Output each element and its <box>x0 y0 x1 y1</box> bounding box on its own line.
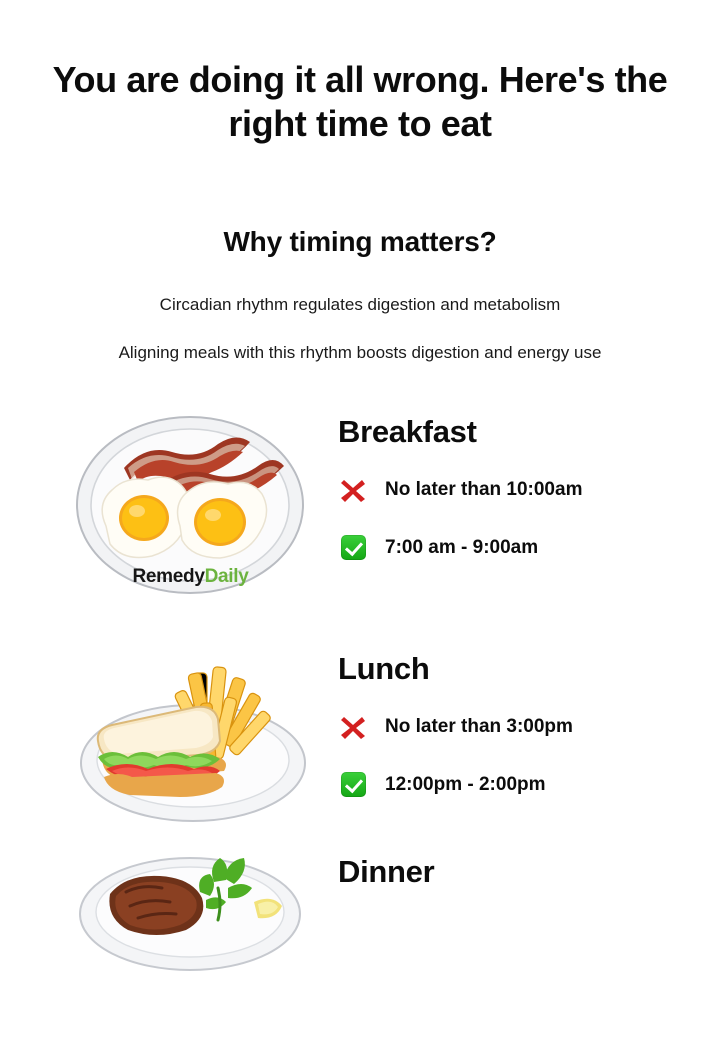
breakfast-limit-text: No later than 10:00am <box>385 479 582 501</box>
breakfast-ideal-row: 7:00 am - 9:00am <box>338 531 698 565</box>
section-point-1: Circadian rhythm regulates digestion and… <box>30 295 690 315</box>
dinner-details: Dinner <box>338 848 698 889</box>
dinner-food-image <box>68 848 313 1038</box>
lunch-limit-row: No later than 3:00pm <box>338 710 698 744</box>
meal-heading-dinner: Dinner <box>338 856 698 889</box>
breakfast-food-image: RemedyDaily <box>68 408 313 598</box>
watermark: RemedyDaily <box>132 566 248 588</box>
page-title: You are doing it all wrong. Here's the r… <box>30 58 690 146</box>
meal-heading-breakfast: Breakfast <box>338 416 698 449</box>
lunch-ideal-row: 12:00pm - 2:00pm <box>338 768 698 802</box>
check-mark-icon <box>338 770 368 800</box>
breakfast-ideal-text: 7:00 am - 9:00am <box>385 537 538 559</box>
breakfast-limit-row: No later than 10:00am <box>338 473 698 507</box>
check-mark-icon <box>338 533 368 563</box>
watermark-secondary: Daily <box>205 566 249 587</box>
breakfast-details: Breakfast No later than 10:00am 7:00 am … <box>338 408 698 565</box>
lunch-food-image <box>68 645 313 835</box>
section-point-2: Aligning meals with this rhythm boosts d… <box>30 343 690 363</box>
section-heading: Why timing matters? <box>30 226 690 258</box>
lunch-details: Lunch No later than 3:00pm 12:00pm - 2:0… <box>338 645 698 802</box>
lunch-limit-text: No later than 3:00pm <box>385 716 573 738</box>
cross-mark-icon <box>338 712 368 742</box>
lunch-ideal-text: 12:00pm - 2:00pm <box>385 774 546 796</box>
watermark-primary: Remedy <box>132 566 204 587</box>
cross-mark-icon <box>338 475 368 505</box>
meal-heading-lunch: Lunch <box>338 653 698 686</box>
